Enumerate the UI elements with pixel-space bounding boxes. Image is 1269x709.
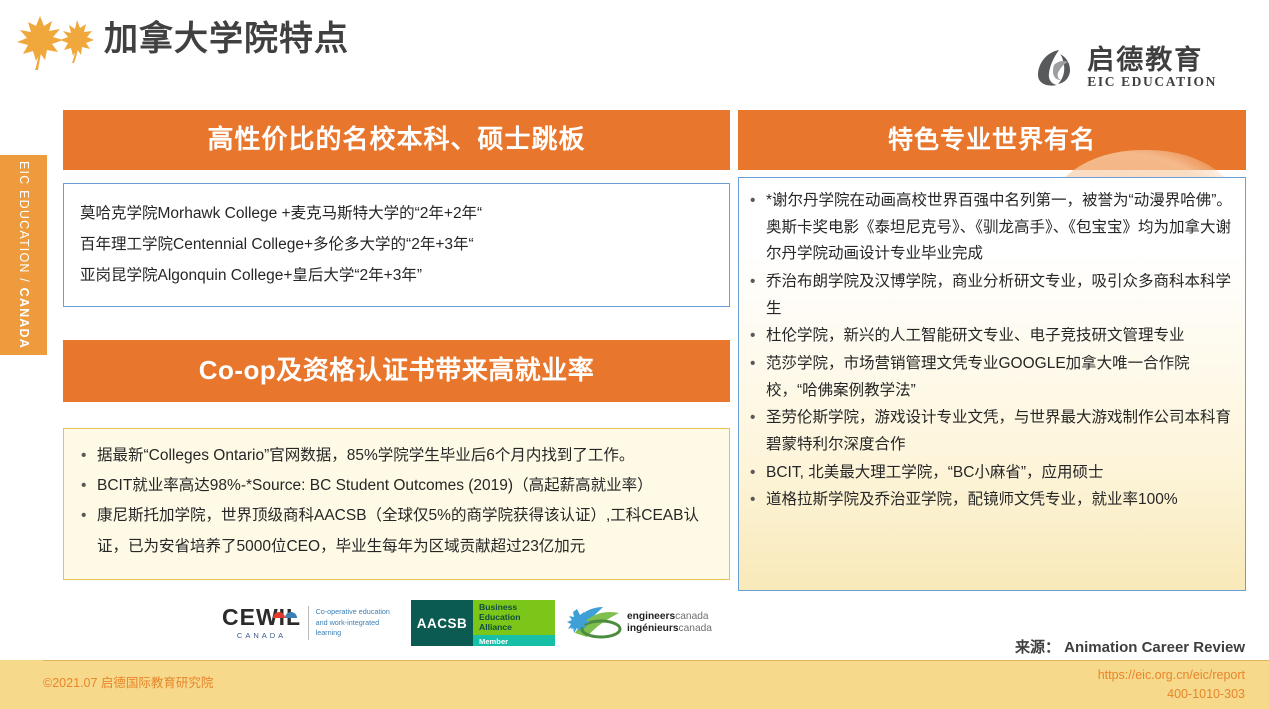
eic-logo-mark-icon xyxy=(1032,45,1078,91)
card-body-1: 莫哈克学院Morhawk College +麦克马斯特大学的“2年+2年“ 百年… xyxy=(63,183,730,307)
alliance-line-3: Alliance xyxy=(479,623,555,633)
footer-contact: https://eic.org.cn/eic/report 400-1010-3… xyxy=(1098,666,1245,704)
aacsb-logo: AACSB Business Education Alliance Member xyxy=(411,600,555,646)
engineers-canada-bold-1: engineers xyxy=(627,611,675,622)
card-body-3: *谢尔丹学院在动画高校世界百强中名列第一，被誉为“动漫界哈佛”。奥斯卡奖电影《泰… xyxy=(738,177,1246,591)
list-item: 道格拉斯学院及乔治亚学院，配镜师文凭专业，就业率100% xyxy=(747,487,1235,514)
card-body-2: 据最新“Colleges Ontario”官网数据，85%学院学生毕业后6个月内… xyxy=(63,428,730,580)
slide-canvas: 加拿大学院特点 启德教育 EIC EDUCATION EIC EDUCATION… xyxy=(0,0,1269,709)
side-tab-canada: EIC EDUCATION / CANADA xyxy=(0,155,47,355)
footer-url[interactable]: https://eic.org.cn/eic/report xyxy=(1098,666,1245,685)
list-item: BCIT就业率高达98%-*Source: BC Student Outcome… xyxy=(78,471,715,501)
footer-phone: 400-1010-303 xyxy=(1098,685,1245,704)
cewil-sub: CANADA xyxy=(237,631,286,640)
engineers-canada-symbol-icon xyxy=(567,603,623,643)
list-item: 百年理工学院Centennial College+多伦多大学的“2年+3年“ xyxy=(80,229,713,260)
cewil-tagline: Co-operative education and work-integrat… xyxy=(316,607,396,638)
card-header-3: 特色专业世界有名 xyxy=(738,110,1246,170)
engineers-canada-row-1: engineerscanada xyxy=(627,611,712,623)
aacsb-member-badge: Member xyxy=(473,635,555,646)
page-title: 加拿大学院特点 xyxy=(104,19,349,60)
card-header-1: 高性价比的名校本科、硕士跳板 xyxy=(63,110,730,170)
aacsb-alliance-text: Business Education Alliance xyxy=(473,600,555,635)
engineers-canada-row-2: ingénieurscanada xyxy=(627,623,712,635)
maple-leaf-icon xyxy=(14,12,98,74)
footer-copyright: ©2021.07 启德国际教育研究院 xyxy=(43,672,213,691)
accreditation-logo-strip: CEWIL CANADA Co-operative education and … xyxy=(216,600,752,646)
list-item: 亚岗昆学院Algonquin College+皇后大学“2年+3年” xyxy=(80,260,713,291)
source-attribution: 来源： Animation Career Review xyxy=(1015,636,1245,657)
bullet-list-employment: 据最新“Colleges Ontario”官网数据，85%学院学生毕业后6个月内… xyxy=(78,441,715,562)
footer-band: ©2021.07 启德国际教育研究院 https://eic.org.cn/ei… xyxy=(0,660,1269,709)
cewil-arc-icon xyxy=(272,600,298,608)
list-item: 莫哈克学院Morhawk College +麦克马斯特大学的“2年+2年“ xyxy=(80,198,713,229)
side-tab-bold: CANADA xyxy=(17,288,31,349)
engineers-canada-rest-2: canada xyxy=(679,623,712,634)
list-item: *谢尔丹学院在动画高校世界百强中名列第一，被誉为“动漫界哈佛”。奥斯卡奖电影《泰… xyxy=(747,188,1235,268)
bullet-list-programs: *谢尔丹学院在动画高校世界百强中名列第一，被誉为“动漫界哈佛”。奥斯卡奖电影《泰… xyxy=(747,188,1235,514)
list-item: 范莎学院，市场营销管理文凭专业GOOGLE加拿大唯一合作院校，“哈佛案例教学法” xyxy=(747,351,1235,404)
list-item: 据最新“Colleges Ontario”官网数据，85%学院学生毕业后6个月内… xyxy=(78,441,715,471)
list-item: 圣劳伦斯学院，游戏设计专业文凭，与世界最大游戏制作公司本科育碧蒙特利尔深度合作 xyxy=(747,405,1235,458)
engineers-canada-logo: engineerscanada ingénieurscanada xyxy=(564,600,752,646)
cewil-logo: CEWIL CANADA Co-operative education and … xyxy=(216,600,402,646)
engineers-canada-bold-2: ingénieurs xyxy=(627,623,679,634)
brand-logo: 启德教育 EIC EDUCATION xyxy=(1032,45,1217,91)
side-tab-prefix: EIC EDUCATION / xyxy=(17,161,31,288)
list-item: BCIT, 北美最大理工学院，“BC小麻省”，应用硕士 xyxy=(747,460,1235,487)
engineers-canada-rest-1: canada xyxy=(675,611,708,622)
brand-name-cn: 启德教育 xyxy=(1087,46,1203,74)
footer-divider xyxy=(43,660,1269,661)
brand-name-en: EIC EDUCATION xyxy=(1087,74,1217,90)
card-header-2: Co-op及资格认证书带来高就业率 xyxy=(63,340,730,402)
list-item: 杜伦学院，新兴的人工智能研文专业、电子竞技研文管理专业 xyxy=(747,323,1235,350)
list-item: 乔治布朗学院及汉博学院，商业分析研文专业，吸引众多商科本科学生 xyxy=(747,269,1235,322)
aacsb-acronym: AACSB xyxy=(411,600,473,646)
list-item: 康尼斯托加学院，世界顶级商科AACSB（全球仅5%的商学院获得该认证）,工科CE… xyxy=(78,501,715,561)
cewil-wordmark: CEWIL xyxy=(222,606,301,629)
